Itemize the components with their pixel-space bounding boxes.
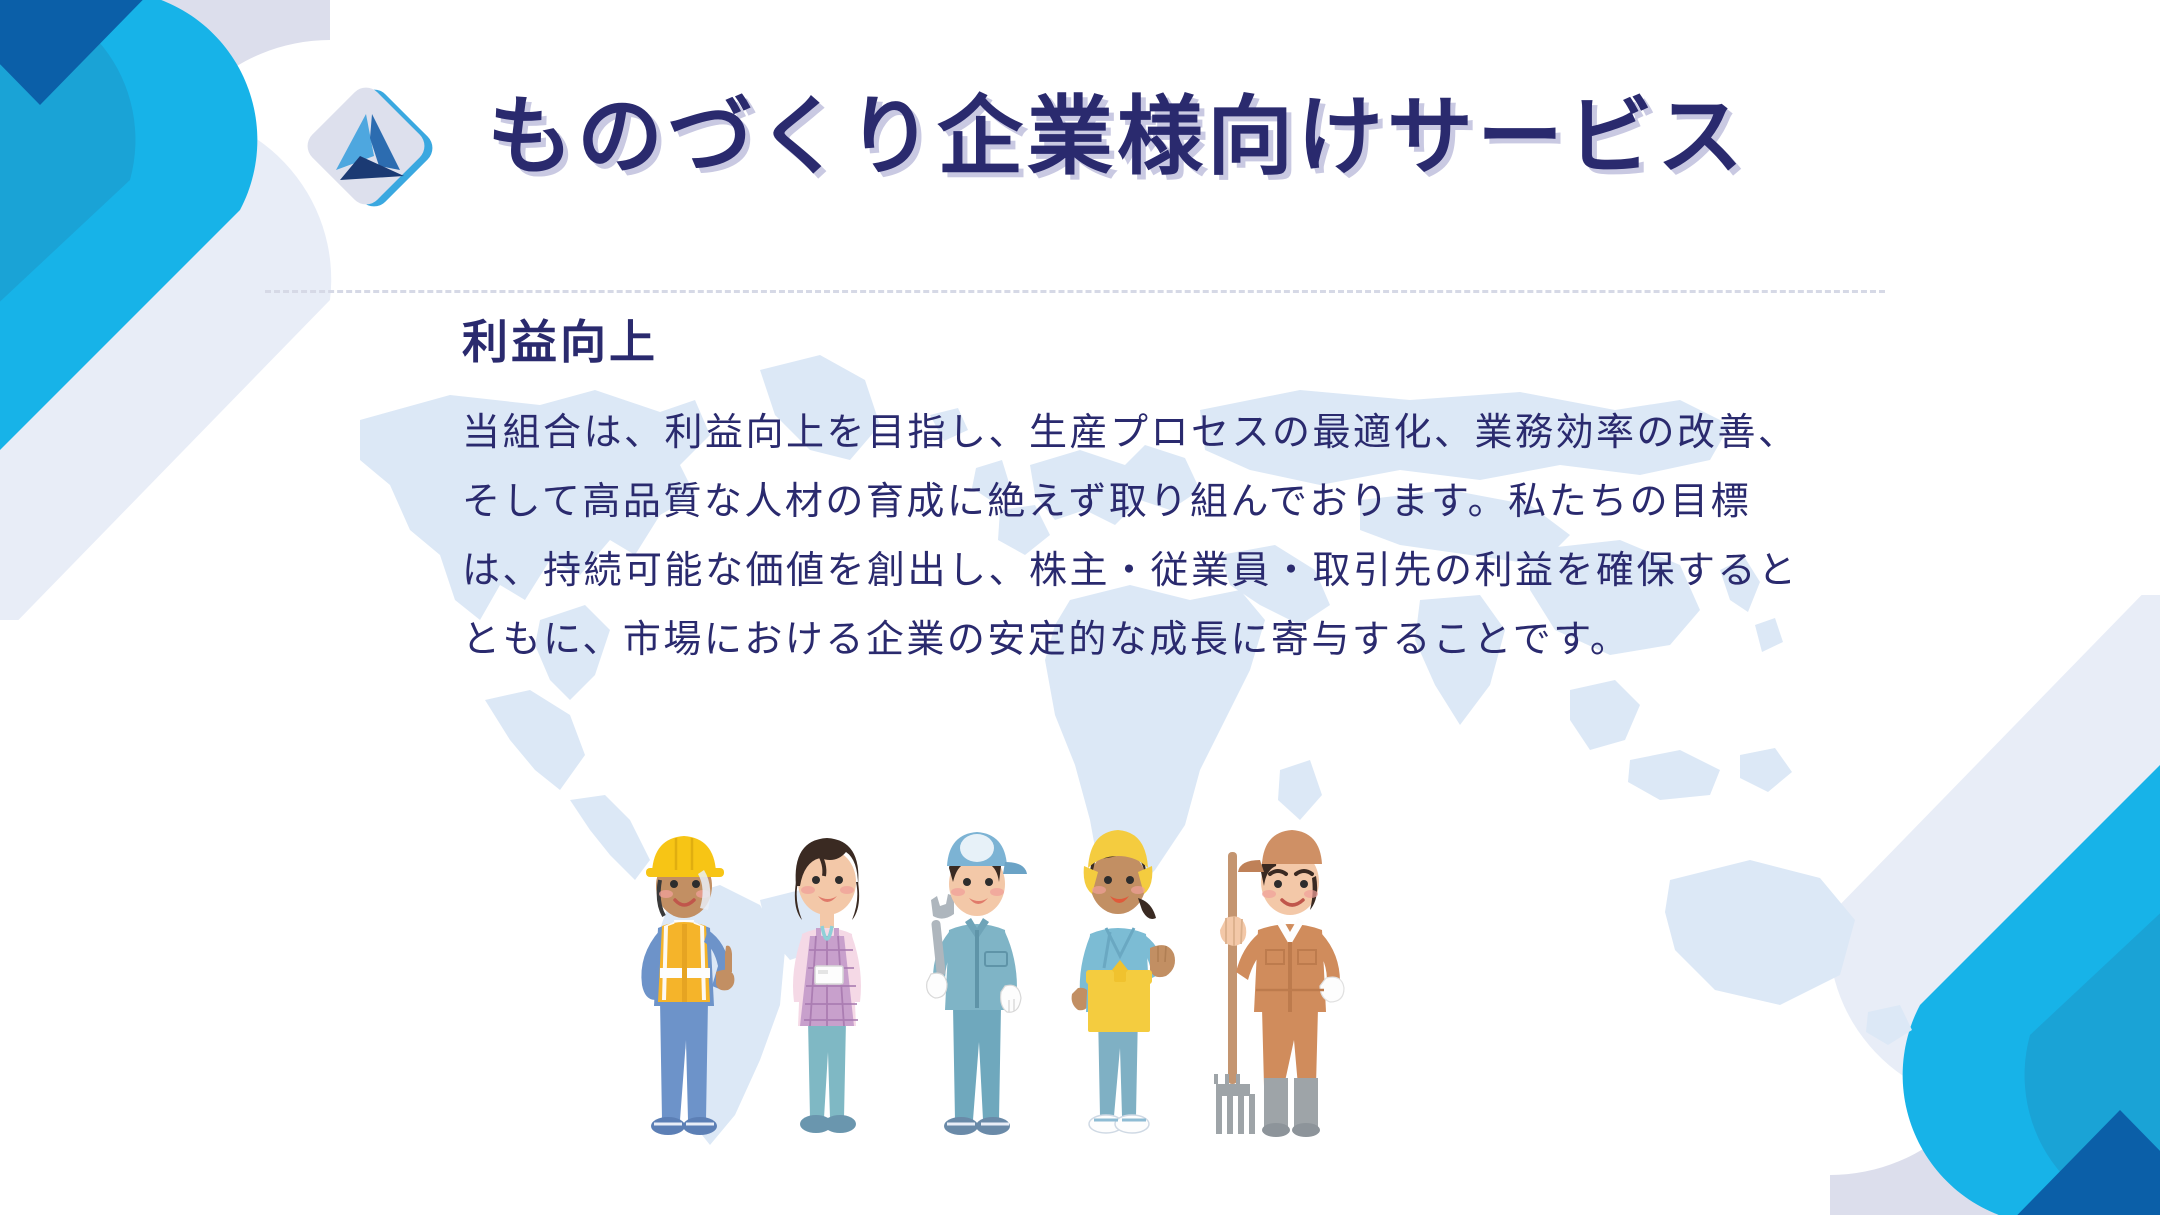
slide-root: ものづくり企業様向けサービス 利益向上 当組合は、利益向上を目指し、生産プロセス… <box>0 0 2160 1215</box>
five-workers-illustration <box>630 790 1390 1170</box>
page-title: ものづくり企業様向けサービス <box>487 88 1747 187</box>
figure-construction-worker <box>641 836 734 1135</box>
body-line: そして高品質な人材の育成に絶えず取り組んでおります。私たちの目標 <box>462 483 1862 521</box>
content-block: 利益向上 当組合は、利益向上を目指し、生産プロセスの最適化、業務効率の改善、 そ… <box>462 315 1862 690</box>
body-paragraph: 当組合は、利益向上を目指し、生産プロセスの最適化、業務効率の改善、 そして高品質… <box>462 414 1862 659</box>
figure-food-service-woman <box>1072 830 1175 1133</box>
slide-header: ものづくり企業様向けサービス <box>0 0 2160 300</box>
triangle-sail-logo-icon <box>301 81 439 213</box>
body-line: ともに、市場における企業の安定的な成長に寄与することです。 <box>462 621 1862 659</box>
figure-office-staff-woman <box>793 838 861 1133</box>
figure-farmer <box>1216 830 1344 1137</box>
section-heading: 利益向上 <box>462 315 1862 370</box>
figure-factory-mechanic <box>927 832 1027 1135</box>
pitchfork-icon <box>1216 852 1255 1134</box>
body-line: 当組合は、利益向上を目指し、生産プロセスの最適化、業務効率の改善、 <box>462 414 1862 452</box>
header-divider <box>265 290 1885 293</box>
company-logo <box>300 78 440 218</box>
body-line: は、持続可能な価値を創出し、株主・従業員・取引先の利益を確保すると <box>462 552 1862 590</box>
